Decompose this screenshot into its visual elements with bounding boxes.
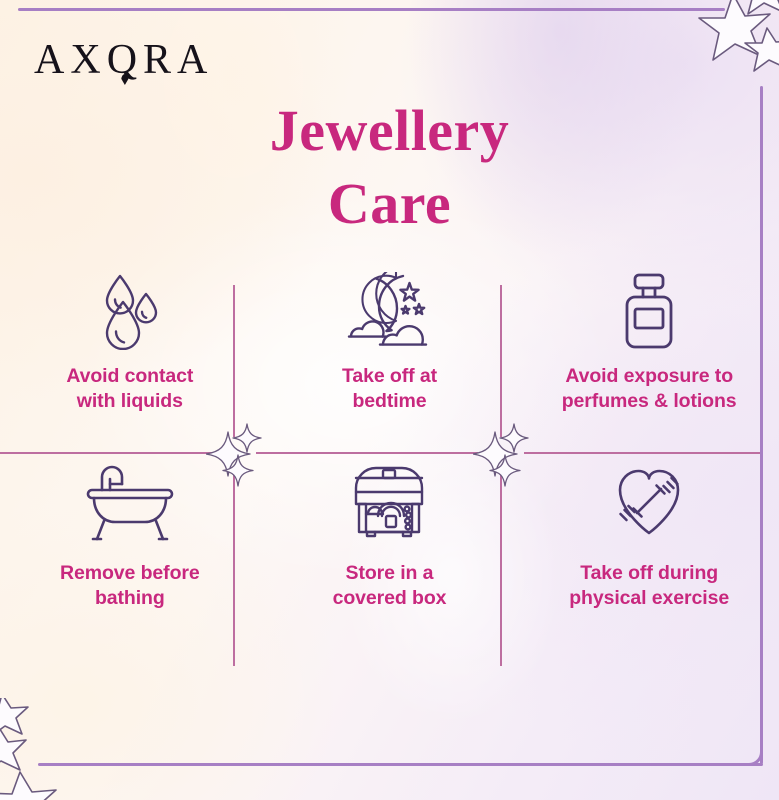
tip-card-perfumes: Avoid exposure to perfumes & lotions bbox=[519, 268, 779, 453]
tip-label-line2: perfumes & lotions bbox=[562, 390, 737, 412]
tip-label-line1: Remove before bbox=[60, 562, 200, 584]
brand-logo: AXQRA bbox=[34, 36, 213, 84]
moon-clouds-stars-icon bbox=[343, 268, 435, 354]
five-point-stars-icon bbox=[0, 698, 86, 800]
tip-label: Take off during physical exercise bbox=[569, 561, 729, 611]
frame-line-top bbox=[18, 8, 725, 11]
tip-label-line1: Take off during bbox=[580, 562, 718, 584]
tip-label-line2: covered box bbox=[333, 587, 447, 609]
jewellery-box-icon bbox=[345, 453, 433, 551]
bathtub-icon bbox=[80, 453, 180, 551]
brand-logo-text: AXQRA bbox=[34, 36, 213, 84]
page-title-line1: Jewellery bbox=[270, 98, 510, 163]
tip-card-exercise: Take off during physical exercise bbox=[519, 453, 779, 668]
tip-label-line2: bedtime bbox=[352, 390, 426, 412]
tip-label-line2: with liquids bbox=[77, 390, 183, 412]
five-point-stars-icon bbox=[675, 0, 779, 96]
diamond-drop-icon: Q bbox=[107, 36, 143, 84]
tip-label-line2: physical exercise bbox=[569, 587, 729, 609]
tip-label-line1: Take off at bbox=[342, 365, 437, 387]
page-title: Jewellery Care bbox=[0, 94, 779, 240]
tip-card-avoid-liquids: Avoid contact with liquids bbox=[0, 268, 260, 453]
water-drops-icon bbox=[94, 268, 166, 354]
tip-label: Avoid contact with liquids bbox=[66, 364, 193, 414]
frame-line-bottom bbox=[38, 763, 763, 766]
tip-card-bathing: Remove before bathing bbox=[0, 453, 260, 668]
tip-label-line1: Store in a bbox=[346, 562, 434, 584]
tip-label: Store in a covered box bbox=[333, 561, 447, 611]
tips-grid: Avoid contact with liquids Take off at bbox=[0, 268, 779, 668]
perfume-bottle-icon bbox=[616, 268, 682, 354]
tip-label-line2: bathing bbox=[95, 587, 165, 609]
page-title-line2: Care bbox=[0, 167, 779, 240]
tip-label: Avoid exposure to perfumes & lotions bbox=[562, 364, 737, 414]
tip-card-bedtime: Take off at bedtime bbox=[260, 268, 520, 453]
tip-label: Remove before bathing bbox=[60, 561, 200, 611]
tip-card-storage: Store in a covered box bbox=[260, 453, 520, 668]
tip-label-line1: Avoid contact bbox=[66, 365, 193, 387]
tip-label-line1: Avoid exposure to bbox=[565, 365, 733, 387]
tip-label: Take off at bedtime bbox=[342, 364, 437, 414]
heart-dumbbell-icon bbox=[603, 453, 695, 551]
